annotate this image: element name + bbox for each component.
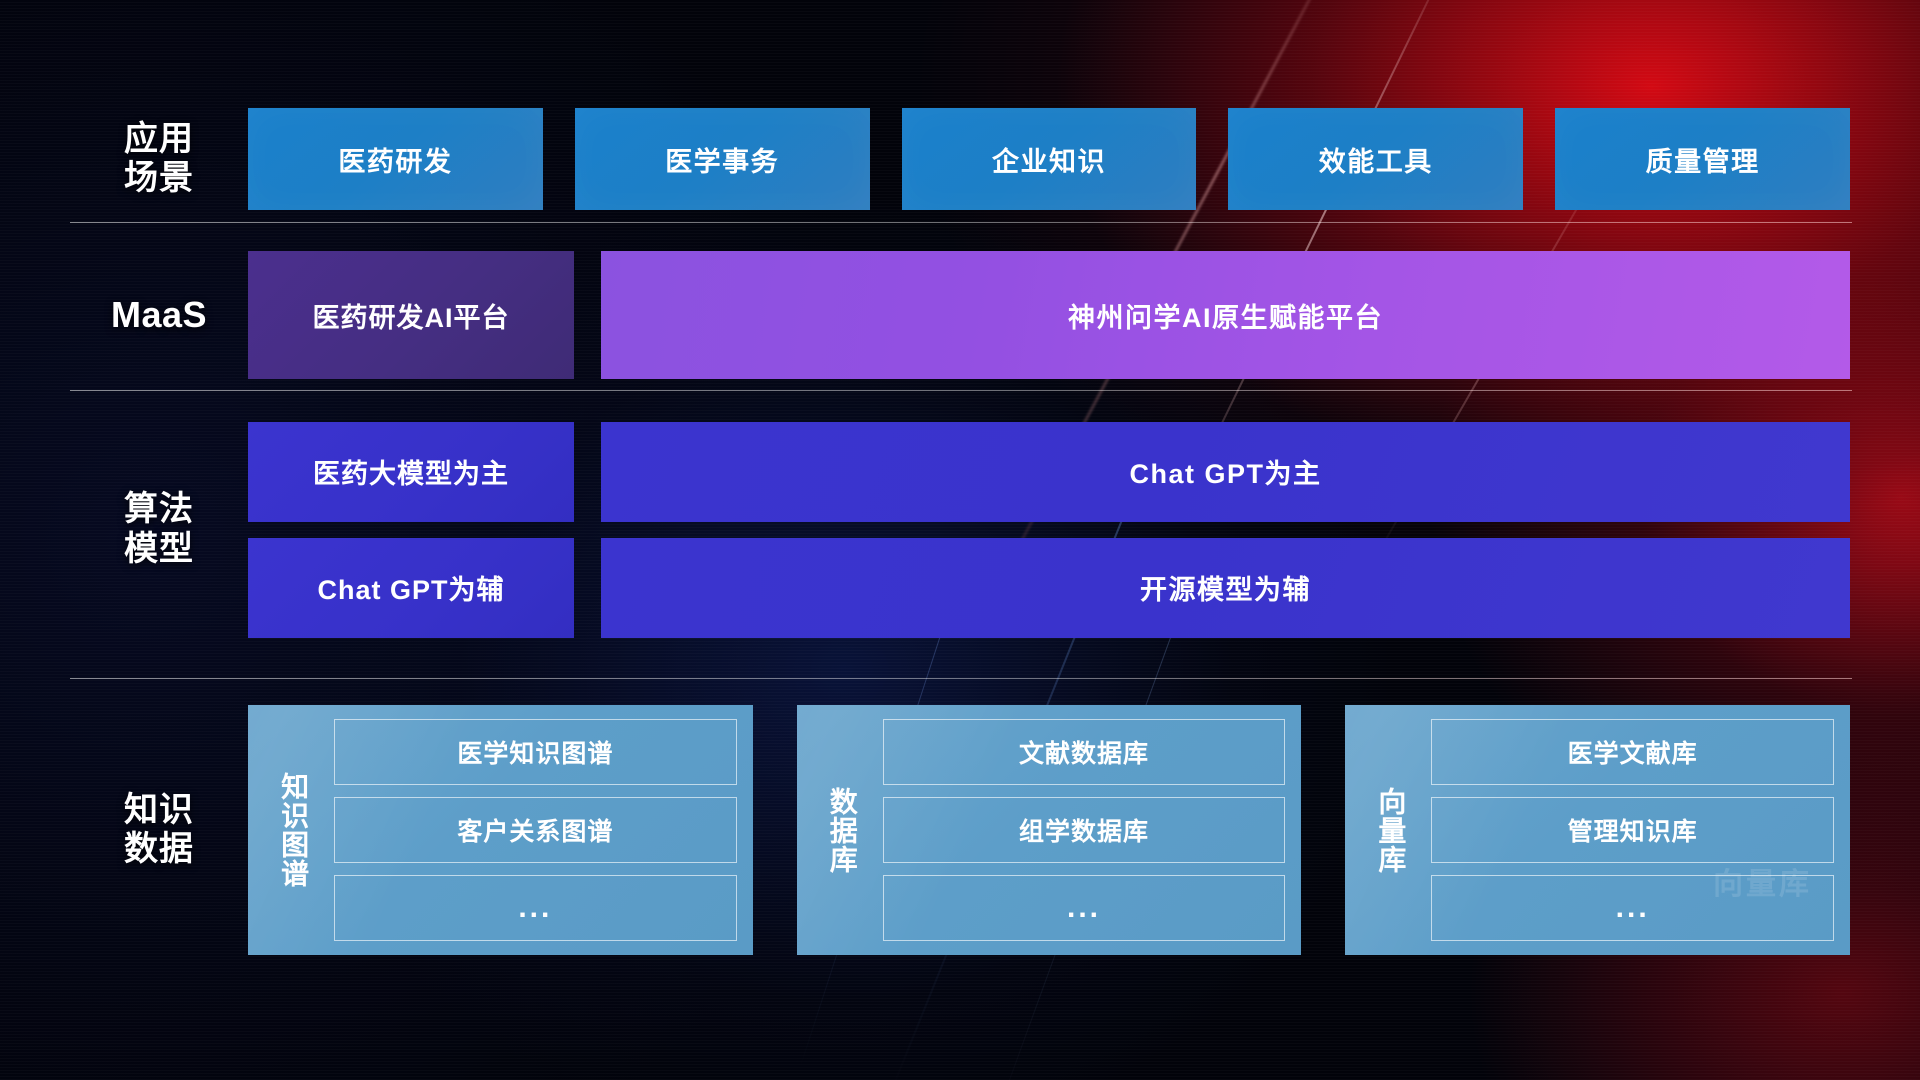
app-box-medicine-rnd[interactable]: 医药研发: [248, 108, 543, 210]
knowledge-item-more-database[interactable]: ...: [883, 875, 1286, 941]
slide-canvas: 应用 场景 医药研发 医学事务 企业知识 效能工具 质量管理 MaaS 医药研发…: [0, 0, 1920, 1080]
algo-box-pharma-large-model-primary[interactable]: 医药大模型为主: [248, 422, 574, 522]
divider-maas-algo: [70, 390, 1852, 391]
knowledge-item-management-knowledge-store[interactable]: 管理知识库: [1431, 797, 1834, 863]
knowledge-group-label-database: 数据库: [813, 719, 871, 941]
layer-application-scenarios: 应用 场景 医药研发 医学事务 企业知识 效能工具 质量管理: [70, 100, 1850, 218]
app-box-medical-affairs[interactable]: 医学事务: [575, 108, 870, 210]
layer-maas: MaaS 医药研发AI平台 神州问学AI原生赋能平台: [70, 250, 1850, 380]
app-box-enterprise-knowledge[interactable]: 企业知识: [902, 108, 1197, 210]
knowledge-item-medical-literature-store[interactable]: 医学文献库: [1431, 719, 1834, 785]
architecture-diagram: 应用 场景 医药研发 医学事务 企业知识 效能工具 质量管理 MaaS 医药研发…: [0, 0, 1920, 1080]
layer-label-algorithm-models: 算法 模型: [70, 490, 248, 569]
divider-apps-maas: [70, 222, 1852, 223]
algorithm-models-body: 医药大模型为主 Chat GPT为主 Chat GPT为辅 开源模型为辅: [248, 422, 1850, 638]
knowledge-item-literature-database[interactable]: 文献数据库: [883, 719, 1286, 785]
knowledge-item-more-vector-store[interactable]: ...: [1431, 875, 1834, 941]
knowledge-item-list-database: 文献数据库 组学数据库 ...: [871, 719, 1286, 941]
maas-box-track: 医药研发AI平台 神州问学AI原生赋能平台: [248, 251, 1850, 379]
app-box-efficiency-tools[interactable]: 效能工具: [1228, 108, 1523, 210]
layer-label-application-scenarios: 应用 场景: [70, 120, 248, 199]
algo-box-chatgpt-primary[interactable]: Chat GPT为主: [601, 422, 1850, 522]
maas-box-shenzhou-wenxue-platform[interactable]: 神州问学AI原生赋能平台: [601, 251, 1850, 379]
divider-algo-knowledge: [70, 678, 1852, 679]
layer-algorithm-models: 算法 模型 医药大模型为主 Chat GPT为主 Chat GPT为辅 开源模型…: [70, 412, 1850, 647]
knowledge-group-graph: 知识图谱 医学知识图谱 客户关系图谱 ...: [248, 705, 753, 955]
knowledge-item-omics-database[interactable]: 组学数据库: [883, 797, 1286, 863]
knowledge-item-medical-knowledge-graph[interactable]: 医学知识图谱: [334, 719, 737, 785]
knowledge-group-label-graph: 知识图谱: [264, 719, 322, 941]
algorithm-row-secondary: Chat GPT为辅 开源模型为辅: [248, 538, 1850, 638]
app-box-quality-management[interactable]: 质量管理: [1555, 108, 1850, 210]
layer-knowledge-data: 知识 数据 知识图谱 医学知识图谱 客户关系图谱 ... 数据库: [70, 700, 1850, 960]
knowledge-group-label-vector-store: 向量库: [1361, 719, 1419, 941]
maas-body: 医药研发AI平台 神州问学AI原生赋能平台: [248, 251, 1850, 379]
knowledge-item-list-graph: 医学知识图谱 客户关系图谱 ...: [322, 719, 737, 941]
knowledge-group-track: 知识图谱 医学知识图谱 客户关系图谱 ... 数据库 文献数据库 组学数据库: [248, 705, 1850, 955]
knowledge-group-vector-store: 向量库 医学文献库 管理知识库 ... 向量库: [1345, 705, 1850, 955]
knowledge-item-list-vector-store: 医学文献库 管理知识库 ...: [1419, 719, 1834, 941]
layer-label-knowledge-data: 知识 数据: [70, 791, 248, 870]
application-scenarios-body: 医药研发 医学事务 企业知识 效能工具 质量管理: [248, 108, 1850, 210]
algo-box-chatgpt-secondary[interactable]: Chat GPT为辅: [248, 538, 574, 638]
maas-box-pharma-ai-platform[interactable]: 医药研发AI平台: [248, 251, 574, 379]
knowledge-data-body: 知识图谱 医学知识图谱 客户关系图谱 ... 数据库 文献数据库 组学数据库: [248, 705, 1850, 955]
application-box-track: 医药研发 医学事务 企业知识 效能工具 质量管理: [248, 108, 1850, 210]
knowledge-group-database: 数据库 文献数据库 组学数据库 ...: [797, 705, 1302, 955]
algorithm-box-stack: 医药大模型为主 Chat GPT为主 Chat GPT为辅 开源模型为辅: [248, 422, 1850, 638]
algo-box-opensource-secondary[interactable]: 开源模型为辅: [601, 538, 1850, 638]
knowledge-item-customer-relation-graph[interactable]: 客户关系图谱: [334, 797, 737, 863]
layer-label-maas: MaaS: [70, 294, 248, 336]
algorithm-row-primary: 医药大模型为主 Chat GPT为主: [248, 422, 1850, 522]
knowledge-item-more-graph[interactable]: ...: [334, 875, 737, 941]
